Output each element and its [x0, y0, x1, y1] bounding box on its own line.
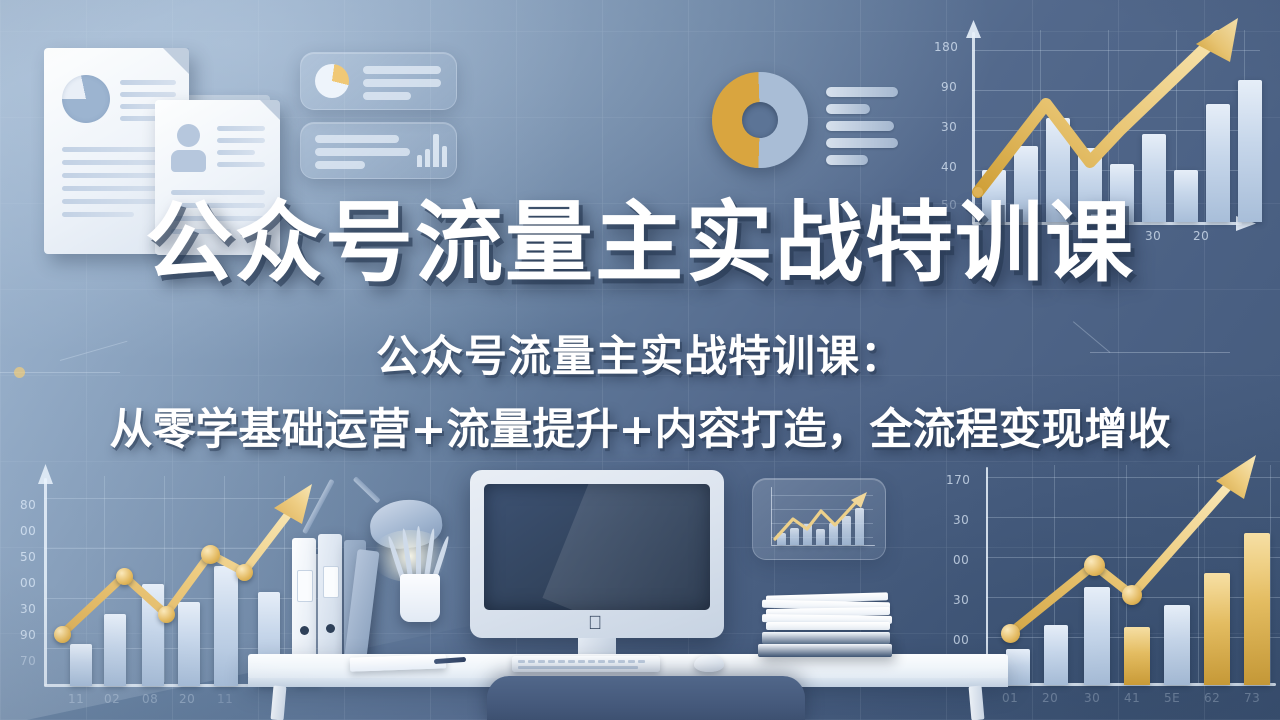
page-title: 公众号流量主实战特训课 [0, 198, 1280, 288]
subtitle-line-2: 从零学基础运营+流量提升+内容打造，全流程变现增收 [0, 395, 1280, 457]
screen-glare [542, 484, 710, 610]
desk-leg [969, 685, 985, 720]
mouse[interactable] [694, 655, 724, 672]
desk-leg [271, 685, 287, 720]
card-zigzag-arrow [763, 487, 875, 549]
main-title-block: 公众号流量主实战特训课 [0, 198, 1280, 288]
subtitle-block-1: 公众号流量主实战特训课： [0, 322, 1280, 384]
office-chair[interactable] [487, 676, 805, 720]
apple-logo:  [588, 614, 602, 633]
course-poster: 180 90 30 40 50 30 20 [0, 0, 1280, 720]
desk-card-mini-chart[interactable] [752, 478, 886, 560]
monitor-screen[interactable] [484, 484, 710, 610]
subtitle-block-2: 从零学基础运营+流量提升+内容打造，全流程变现增收 [0, 395, 1280, 457]
keyboard[interactable] [512, 656, 660, 672]
subtitle-line-1: 公众号流量主实战特训课： [0, 322, 1280, 384]
